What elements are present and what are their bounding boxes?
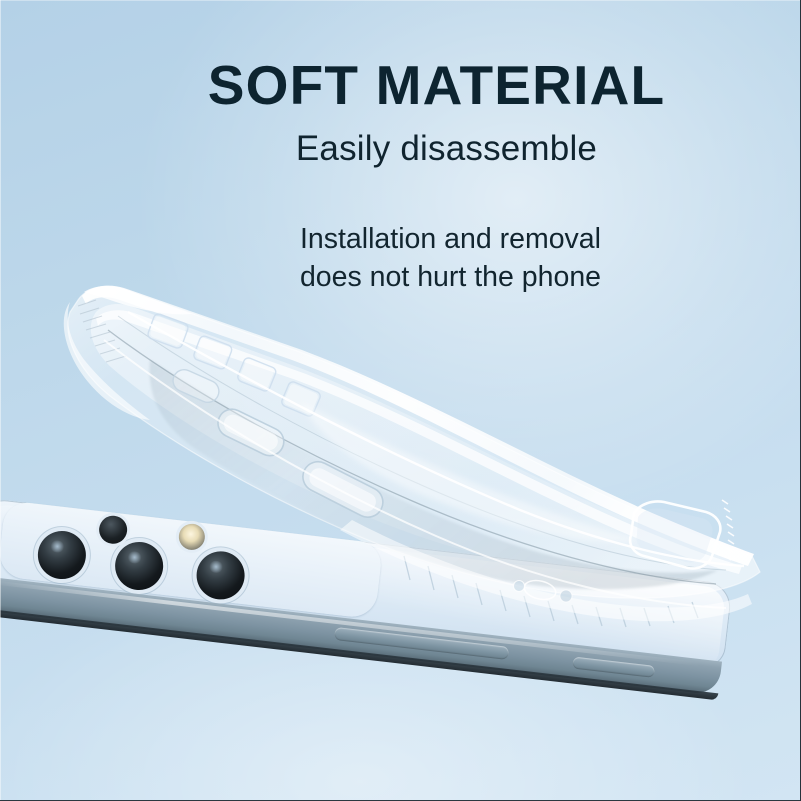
depth-sensor-icon xyxy=(98,514,129,545)
camera-lens-icon xyxy=(35,528,88,581)
description-line-2: does not hurt the phone xyxy=(100,258,801,296)
flash-icon xyxy=(177,522,206,551)
camera-lens-icon xyxy=(113,539,166,592)
description-line-1: Installation and removal xyxy=(300,223,601,255)
product-banner: SOFT MATERIAL Easily disassemble Install… xyxy=(0,0,801,801)
description: Installation and removal does not hurt t… xyxy=(0,220,801,297)
camera-lens-icon xyxy=(194,549,247,602)
subtitle: Easily disassemble xyxy=(0,129,801,169)
page-title: SOFT MATERIAL xyxy=(0,57,801,115)
case-button-covers xyxy=(170,366,388,522)
camera-cutout xyxy=(630,501,720,568)
smartphone xyxy=(0,497,753,736)
